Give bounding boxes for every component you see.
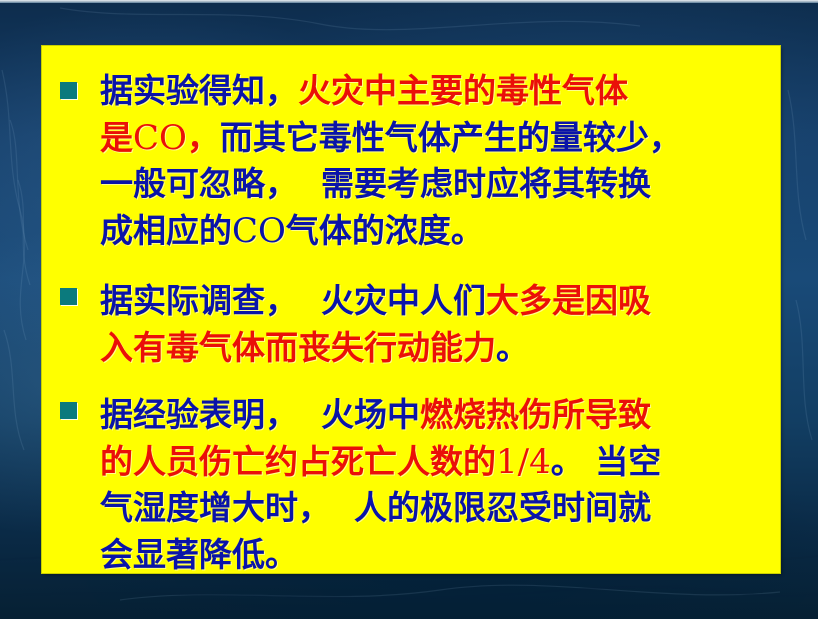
text-line: 气湿度增大时， 人的极限忍受时间就	[100, 481, 651, 529]
text-run: 成相应的	[100, 211, 232, 250]
text-line: 入有毒气体而丧失行动能力。	[100, 321, 529, 369]
bullet-list: 据实验得知，火灾中主要的毒性气体是CO，而其它毒性气体产生的量较少，一般可忽略，…	[42, 46, 780, 573]
text-line: 的人员伤亡约占死亡人数的1/4。 当空	[100, 435, 661, 483]
text-run: 据实际调查， 火灾中人们	[100, 281, 486, 320]
text-line: 会显著降低。	[100, 528, 298, 576]
text-line: 据实验得知，火灾中主要的毒性气体	[100, 64, 628, 112]
square-bullet-icon	[60, 402, 77, 419]
text-run: 而其它毒性气体产生的量较少，	[220, 118, 682, 157]
text-run: 燃烧热伤所导致	[420, 395, 651, 434]
text-line: 是CO，而其它毒性气体产生的量较少，	[100, 111, 682, 159]
slide-canvas: 据实验得知，火灾中主要的毒性气体是CO，而其它毒性气体产生的量较少，一般可忽略，…	[0, 0, 818, 619]
text-line: 据实际调查， 火灾中人们大多是因吸	[100, 274, 651, 322]
text-run: 。	[496, 328, 529, 367]
text-line: 据经验表明， 火场中燃烧热伤所导致	[100, 388, 651, 436]
text-run: 入有毒气体而丧失行动能力	[100, 328, 496, 367]
text-run: 一般可忽略， 需要考虑时应将其转换	[100, 164, 651, 203]
top-highlight-strip	[0, 0, 818, 3]
text-run: ，	[187, 118, 220, 157]
text-run: 1/4	[496, 442, 551, 482]
text-run: 是	[100, 118, 133, 157]
text-run: 据经验表明， 火场中	[100, 395, 420, 434]
text-run: 当空	[584, 442, 662, 481]
text-run: CO	[232, 211, 286, 251]
text-run: 据实验得知，	[100, 71, 298, 110]
text-run: 。	[551, 442, 584, 481]
text-run: 气体的浓度。	[286, 211, 484, 250]
text-line: 一般可忽略， 需要考虑时应将其转换	[100, 157, 651, 205]
text-run: 会显著降低。	[100, 535, 298, 574]
text-line: 成相应的CO气体的浓度。	[100, 204, 484, 252]
text-run: 大多是因吸	[486, 281, 651, 320]
square-bullet-icon	[60, 82, 77, 99]
text-run: CO	[133, 118, 187, 158]
text-run: 气湿度增大时， 人的极限忍受时间就	[100, 488, 651, 527]
content-panel: 据实验得知，火灾中主要的毒性气体是CO，而其它毒性气体产生的量较少，一般可忽略，…	[42, 46, 780, 573]
text-run: 火灾中主要的毒性气体	[298, 71, 628, 110]
text-run: 的人员伤亡约占死亡人数的	[100, 442, 496, 481]
square-bullet-icon	[60, 288, 77, 305]
